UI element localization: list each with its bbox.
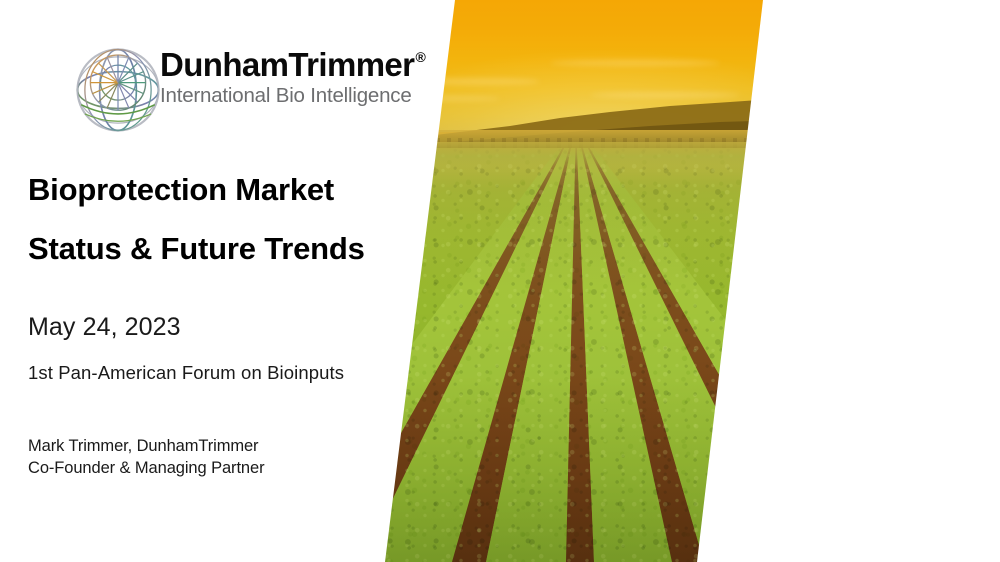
company-logo: DunhamTrimmer® International Bio Intelli… (72, 42, 412, 142)
logo-tagline: International Bio Intelligence (160, 84, 410, 108)
crop-field (380, 148, 770, 562)
presenter-role: Co-Founder & Managing Partner (28, 457, 388, 479)
field-lighting-vignette (380, 148, 770, 562)
title-line-1: Bioprotection Market (28, 160, 428, 219)
event-name: 1st Pan-American Forum on Bioinputs (28, 362, 344, 384)
logo-company-name-text: DunhamTrimmer (160, 46, 414, 83)
cloud-streak (410, 78, 540, 85)
presentation-date: May 24, 2023 (28, 313, 181, 342)
cloud-streak (550, 60, 720, 66)
title-line-2: Status & Future Trends (28, 219, 428, 278)
photo-image-content (380, 0, 770, 562)
presentation-title-slide: DunhamTrimmer® International Bio Intelli… (0, 0, 1000, 562)
presenter-name-and-company: Mark Trimmer, DunhamTrimmer (28, 435, 388, 457)
logo-wordmark: DunhamTrimmer® International Bio Intelli… (160, 48, 410, 107)
globe-wireframe-icon (72, 44, 164, 136)
logo-company-name: DunhamTrimmer® (160, 48, 410, 83)
registered-trademark-icon: ® (415, 49, 425, 65)
presenter-info: Mark Trimmer, DunhamTrimmer Co-Founder &… (28, 435, 388, 479)
horizon-blend (380, 142, 770, 168)
page-title: Bioprotection Market Status & Future Tre… (28, 160, 428, 278)
